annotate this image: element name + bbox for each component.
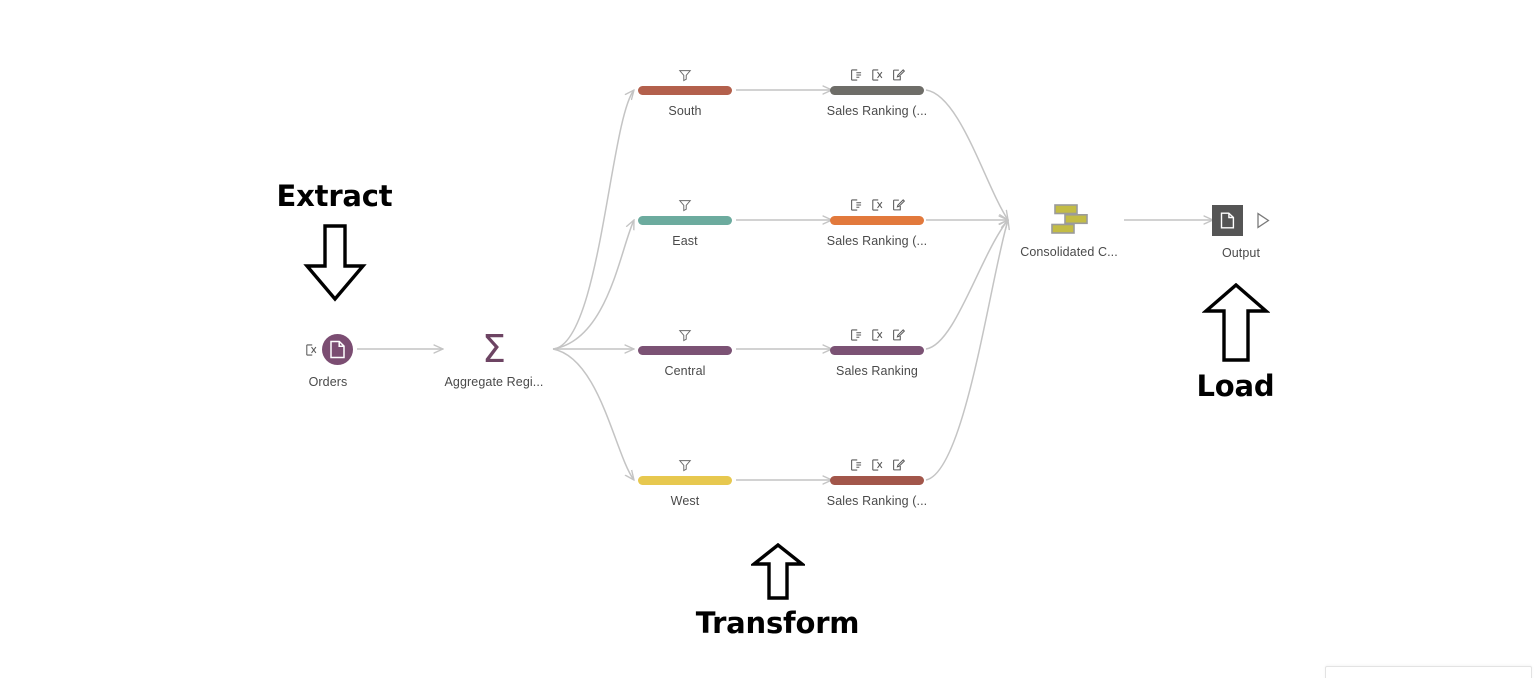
filter-icon[interactable]	[678, 68, 692, 82]
aggregate-label: Aggregate Regi...	[445, 375, 544, 390]
region-label: South	[668, 104, 701, 119]
node-rank-west[interactable]: Sales Ranking (...	[782, 456, 972, 509]
remove-field-icon[interactable]	[304, 343, 317, 356]
node-aggregate-region[interactable]: Σ Aggregate Regi...	[399, 332, 589, 390]
union-label: Consolidated C...	[1020, 245, 1118, 260]
remove-field-icon[interactable]	[870, 328, 884, 342]
file-icon[interactable]	[322, 334, 353, 365]
rank-pill[interactable]	[830, 476, 924, 485]
arrow-up-icon	[1202, 283, 1270, 362]
rank-icon-strip	[849, 326, 905, 342]
orders-icon-group[interactable]	[304, 332, 353, 366]
rank-pill[interactable]	[830, 86, 924, 95]
node-output[interactable]: Output	[1146, 203, 1336, 261]
union-icon[interactable]	[1049, 202, 1089, 236]
annotation-transform: Transform	[700, 543, 855, 638]
output-file-icon[interactable]	[1212, 205, 1243, 236]
region-label: West	[671, 494, 700, 509]
west-icon-strip	[678, 456, 692, 472]
rank-label: Sales Ranking (...	[827, 234, 927, 249]
bottom-panel-edge	[1325, 666, 1532, 678]
output-icon-group[interactable]	[1212, 203, 1271, 237]
node-consolidated-union[interactable]: Consolidated C...	[974, 202, 1164, 260]
rank-pill[interactable]	[830, 216, 924, 225]
load-label: Load	[1197, 372, 1275, 401]
node-region-west[interactable]: West	[590, 456, 780, 509]
node-rank-central[interactable]: Sales Ranking	[782, 326, 972, 379]
annotation-extract: Extract	[257, 182, 412, 302]
region-pill[interactable]	[638, 86, 732, 95]
filter-icon[interactable]	[678, 458, 692, 472]
central-icon-strip	[678, 326, 692, 342]
filter-icon[interactable]	[678, 328, 692, 342]
split-output-icon[interactable]	[849, 458, 863, 472]
edit-field-icon[interactable]	[891, 458, 905, 472]
split-output-icon[interactable]	[849, 328, 863, 342]
rank-icon-strip	[849, 66, 905, 82]
output-label: Output	[1222, 246, 1260, 261]
rank-label: Sales Ranking	[836, 364, 918, 379]
region-pill[interactable]	[638, 216, 732, 225]
region-label: East	[672, 234, 697, 249]
transform-label: Transform	[696, 609, 860, 638]
rank-icon-strip	[849, 456, 905, 472]
split-output-icon[interactable]	[849, 198, 863, 212]
sigma-icon[interactable]: Σ	[482, 332, 506, 366]
orders-label: Orders	[309, 375, 348, 390]
east-icon-strip	[678, 196, 692, 212]
rank-pill[interactable]	[830, 346, 924, 355]
south-icon-strip	[678, 66, 692, 82]
node-rank-south[interactable]: Sales Ranking (...	[782, 66, 972, 119]
extract-label: Extract	[277, 182, 393, 211]
rank-label: Sales Ranking (...	[827, 494, 927, 509]
play-icon[interactable]	[1255, 212, 1271, 229]
arrow-down-icon	[303, 224, 367, 302]
edit-field-icon[interactable]	[891, 198, 905, 212]
rank-label: Sales Ranking (...	[827, 104, 927, 119]
rank-icon-strip	[849, 196, 905, 212]
annotation-load: Load	[1158, 283, 1313, 401]
remove-field-icon[interactable]	[870, 198, 884, 212]
node-orders[interactable]: Orders	[233, 332, 423, 390]
remove-field-icon[interactable]	[870, 458, 884, 472]
node-rank-east[interactable]: Sales Ranking (...	[782, 196, 972, 249]
split-output-icon[interactable]	[849, 68, 863, 82]
node-region-east[interactable]: East	[590, 196, 780, 249]
node-region-central[interactable]: Central	[590, 326, 780, 379]
flow-canvas[interactable]: Orders Σ Aggregate Regi... South	[0, 0, 1536, 678]
remove-field-icon[interactable]	[870, 68, 884, 82]
node-region-south[interactable]: South	[590, 66, 780, 119]
region-pill[interactable]	[638, 346, 732, 355]
region-label: Central	[665, 364, 706, 379]
edit-field-icon[interactable]	[891, 68, 905, 82]
edit-field-icon[interactable]	[891, 328, 905, 342]
arrow-up-icon	[751, 543, 805, 600]
region-pill[interactable]	[638, 476, 732, 485]
filter-icon[interactable]	[678, 198, 692, 212]
